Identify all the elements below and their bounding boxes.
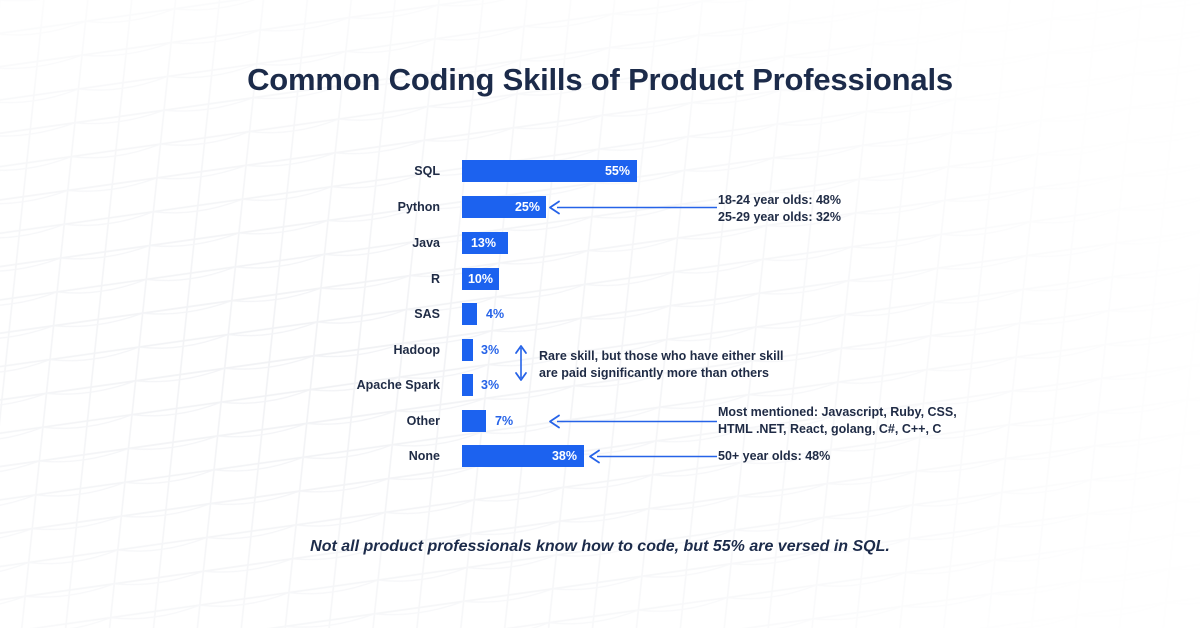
category-label-hadoop: Hadoop	[240, 339, 440, 361]
category-label-none: None	[240, 445, 440, 467]
category-label-sql: SQL	[240, 160, 440, 182]
bar-sas	[462, 303, 477, 325]
python-annotation-arrow-icon	[545, 198, 720, 218]
bar-row: SQL 55%	[0, 160, 1200, 182]
bar-other	[462, 410, 486, 432]
bar-value-java: 13%	[462, 232, 505, 254]
bar-value-none: 38%	[462, 445, 577, 467]
category-label-sas: SAS	[240, 303, 440, 325]
bar-row: SAS 4%	[0, 303, 1200, 325]
bar-row: Java 13%	[0, 232, 1200, 254]
bar-chart: SQL 55% Python 25% Java 13% R 10% SAS 4%	[0, 0, 1200, 628]
bar-value-other: 7%	[495, 410, 513, 432]
category-label-python: Python	[240, 196, 440, 218]
category-label-other: Other	[240, 410, 440, 432]
bar-value-python: 25%	[462, 196, 540, 218]
other-annotation-text: Most mentioned: Javascript, Ruby, CSS, H…	[718, 404, 957, 438]
other-annotation-arrow-icon	[545, 412, 720, 432]
bar-value-sas: 4%	[486, 303, 504, 325]
bar-row: R 10%	[0, 268, 1200, 290]
rare-skill-double-arrow-icon	[512, 343, 530, 383]
bar-value-hadoop: 3%	[481, 339, 499, 361]
bar-value-r: 10%	[462, 268, 499, 290]
bar-apache-spark	[462, 374, 473, 396]
category-label-apache-spark: Apache Spark	[240, 374, 440, 396]
python-annotation-text: 18-24 year olds: 48% 25-29 year olds: 32…	[718, 192, 841, 226]
none-annotation-arrow-icon	[585, 447, 720, 467]
category-label-r: R	[240, 268, 440, 290]
bar-hadoop	[462, 339, 473, 361]
bar-value-sql: 55%	[462, 160, 630, 182]
none-annotation-text: 50+ year olds: 48%	[718, 448, 830, 465]
bar-value-apache-spark: 3%	[481, 374, 499, 396]
footer-note: Not all product professionals know how t…	[0, 538, 1200, 556]
category-label-java: Java	[240, 232, 440, 254]
rare-skill-annotation-text: Rare skill, but those who have either sk…	[539, 348, 784, 382]
